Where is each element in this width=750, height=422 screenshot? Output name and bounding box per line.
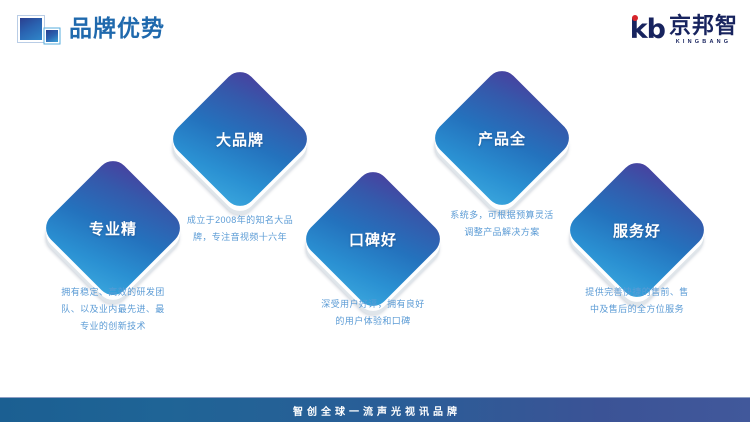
feature-node-5[interactable]: 服务好	[585, 178, 689, 282]
diamond-shape-2: 大品牌	[188, 87, 292, 191]
feature-label-2: 大品牌	[188, 87, 292, 191]
logo-mark: kb	[630, 16, 665, 44]
feature-label-5: 服务好	[585, 178, 689, 282]
decorative-square-small-icon	[46, 30, 58, 42]
feature-desc-3: 深受用户好评，拥有良好 的用户体验和口碑	[283, 296, 463, 330]
feature-node-2[interactable]: 大品牌	[188, 87, 292, 191]
slide-header: 品牌优势 kb 京邦智 KINGBANG	[0, 0, 750, 58]
feature-label-3: 口碑好	[321, 187, 425, 291]
feature-desc-1: 拥有稳定、高效的研发团 队、以及业内最先进、最 专业的创新技术	[23, 284, 203, 335]
slide-canvas: 品牌优势 kb 京邦智 KINGBANG 专业精 拥有稳定、高效的研发团 队、以…	[0, 0, 750, 422]
diamond-shape-3: 口碑好	[321, 187, 425, 291]
feature-desc-5: 提供完善快捷的售前、售 中及售后的全方位服务	[547, 284, 727, 318]
feature-desc-4: 系统多，可根据预算灵活 调整产品解决方案	[412, 207, 592, 241]
brand-logo: kb 京邦智 KINGBANG	[630, 13, 738, 47]
feature-node-4[interactable]: 产品全	[450, 86, 554, 190]
feature-node-3[interactable]: 口碑好	[321, 187, 425, 291]
logo-name-en: KINGBANG	[669, 38, 738, 46]
logo-name-cn: 京邦智	[669, 15, 738, 37]
feature-desc-2: 成立于2008年的知名大品 牌，专注音视频十六年	[150, 212, 330, 246]
slide-footer: 智创全球一流声光视讯品牌	[0, 397, 750, 422]
logo-wordmark: 京邦智 KINGBANG	[669, 15, 738, 46]
feature-label-4: 产品全	[450, 86, 554, 190]
diamond-shape-5: 服务好	[585, 178, 689, 282]
footer-slogan: 智创全球一流声光视讯品牌	[289, 403, 461, 418]
decorative-square-large-icon	[20, 18, 42, 40]
diamond-shape-4: 产品全	[450, 86, 554, 190]
page-title: 品牌优势	[69, 13, 165, 43]
logo-red-dot-icon	[632, 15, 638, 21]
